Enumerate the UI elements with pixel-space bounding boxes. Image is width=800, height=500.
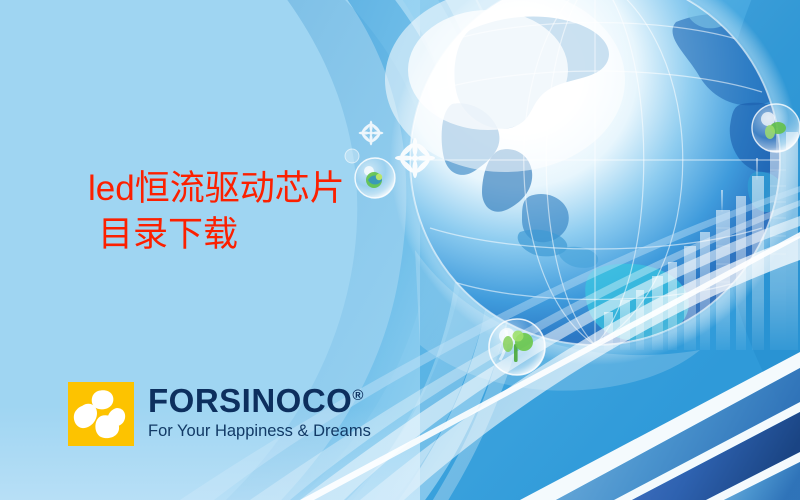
bubble-tree-icon [489, 319, 545, 375]
bubble-leaf-icon [752, 104, 800, 152]
four-petal-pinwheel-mark [68, 382, 134, 446]
registered-trademark-icon: ® [352, 387, 364, 404]
logo-wordmark: FORSINOCO® [148, 384, 371, 417]
banner: led恒流驱动芯片 目录下载 FORSINOCO® For Your Happi… [0, 0, 800, 500]
logo-wordmark-text: FORSINOCO [148, 382, 352, 419]
title-line-2: 目录下载 [88, 212, 345, 258]
bubble-small-accent [345, 149, 359, 163]
company-logo[interactable]: FORSINOCO® For Your Happiness & Dreams [68, 382, 371, 446]
title-line-1: led恒流驱动芯片 [88, 166, 345, 212]
logo-tagline: For Your Happiness & Dreams [148, 423, 371, 440]
bubble-globe-icon [355, 158, 395, 198]
banner-title: led恒流驱动芯片 目录下载 [88, 166, 345, 258]
pinwheel-petals-icon [68, 382, 134, 446]
logo-text-block: FORSINOCO® For Your Happiness & Dreams [148, 382, 371, 440]
